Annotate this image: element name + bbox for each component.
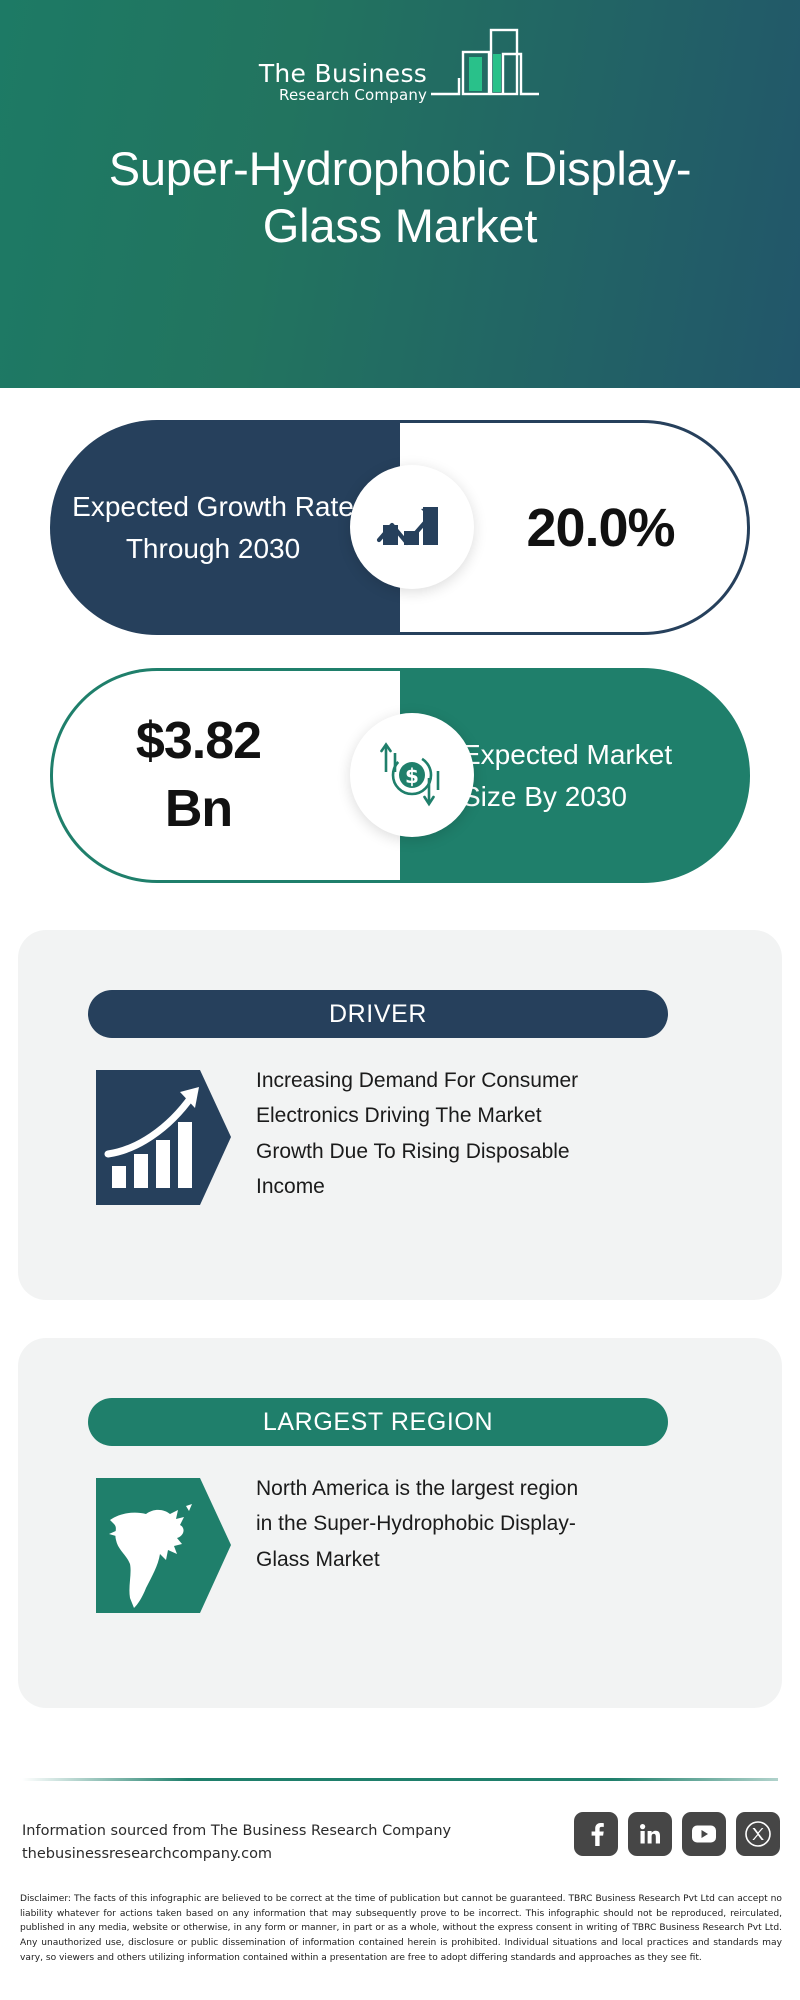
panel-largest-region: LARGEST REGION North America is the larg… [18, 1338, 782, 1708]
market-size-value-line2: Bn [165, 780, 232, 838]
facebook-icon[interactable] [574, 1812, 618, 1856]
largest-region-heading-label: LARGEST REGION [263, 1408, 493, 1437]
growth-rate-value: 20.0% [472, 497, 674, 559]
market-size-value: $3.82 Bn [136, 708, 317, 843]
x-twitter-icon[interactable] [736, 1812, 780, 1856]
north-america-map-icon [96, 1478, 231, 1613]
stat-card-growth-rate: Expected Growth Rate Through 2030 20.0% [50, 420, 750, 635]
market-size-value-line1: $3.82 [136, 712, 261, 770]
growth-rate-label: Expected Growth Rate Through 2030 [50, 486, 400, 570]
linkedin-icon[interactable] [628, 1812, 672, 1856]
footer-source: Information sourced from The Business Re… [22, 1820, 492, 1867]
stat-card-market-size: $3.82 Bn Expected Market Size By 2030 $ [50, 668, 750, 883]
company-logo: The Business Research Company [0, 28, 800, 107]
footer-source-line-1: Information sourced from The Business Re… [22, 1820, 492, 1843]
page-title: Super-Hydrophobic Display-Glass Market [50, 140, 750, 255]
driver-body-text: Increasing Demand For Consumer Electroni… [256, 1063, 586, 1204]
footer-source-line-2[interactable]: thebusinessresearchcompany.com [22, 1843, 492, 1866]
youtube-icon[interactable] [682, 1812, 726, 1856]
largest-region-heading-pill: LARGEST REGION [88, 1398, 668, 1446]
growth-bar-arrow-icon [96, 1070, 231, 1205]
dollar-cycle-icon: $ [350, 713, 474, 837]
bar-chart-logo-mark [429, 28, 541, 105]
footer-divider [22, 1778, 778, 1781]
logo-line-1: The Business [259, 61, 427, 86]
disclaimer-text: Disclaimer: The facts of this infographi… [20, 1892, 782, 1966]
infographic-page: The Business Research Company Super-Hydr… [0, 0, 800, 2000]
driver-heading-label: DRIVER [329, 1000, 427, 1029]
header-banner: The Business Research Company Super-Hydr… [0, 0, 800, 388]
growth-rate-label-panel: Expected Growth Rate Through 2030 [50, 420, 400, 635]
logo-line-2: Research Company [259, 88, 427, 103]
growth-chart-arrow-icon [350, 465, 474, 589]
market-size-value-panel: $3.82 Bn [50, 668, 400, 883]
largest-region-body-text: North America is the largest region in t… [256, 1471, 586, 1577]
driver-heading-pill: DRIVER [88, 990, 668, 1038]
svg-text:$: $ [405, 764, 419, 788]
social-links [574, 1812, 780, 1856]
panel-driver: DRIVER Increasing Demand For Consumer El… [18, 930, 782, 1300]
